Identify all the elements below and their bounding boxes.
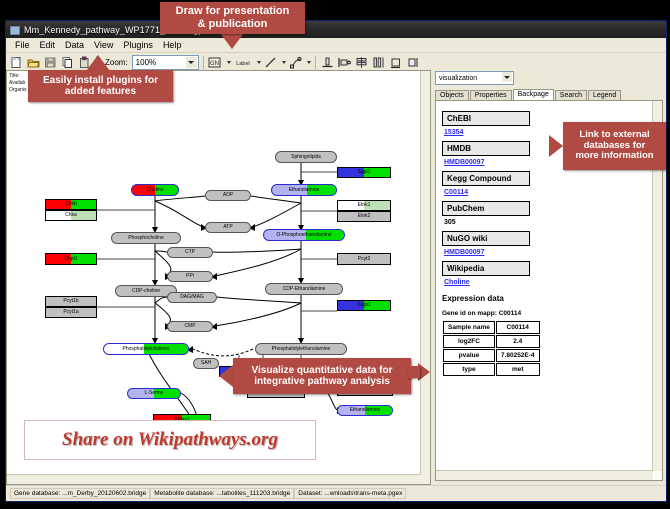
node-label: DAG/MAG	[180, 295, 204, 300]
pubchem-value: 305	[444, 219, 647, 226]
pathway-metabolite-node[interactable]: Phosphatidylethanolamine	[255, 343, 347, 355]
pathway-gene-node[interactable]: Etnk1	[337, 200, 391, 211]
tab-objects[interactable]: Objects	[435, 90, 469, 100]
pathway-gene-node[interactable]: Chka	[45, 210, 97, 221]
table-row: pvalue 7.80252E-4	[443, 349, 540, 362]
menu-plugins[interactable]: Plugins	[118, 40, 158, 50]
pathway-metabolite-node[interactable]: CMP	[167, 321, 213, 332]
chevron-down-icon[interactable]	[502, 72, 512, 82]
callout-link: Link to external databases for more info…	[563, 122, 666, 170]
node-label: PPi	[186, 274, 194, 279]
chevron-down-icon[interactable]	[186, 57, 197, 68]
visualization-value: visualization	[439, 75, 477, 82]
visualization-row: visualization	[431, 70, 666, 86]
open-folder-icon[interactable]	[26, 55, 41, 70]
label-icon[interactable]: Label	[233, 55, 253, 70]
menu-data[interactable]: Data	[60, 40, 89, 50]
wikipedia-link[interactable]: Choline	[444, 279, 647, 286]
statusbar: Gene database: ...m_Derby_20120602.bridg…	[6, 485, 666, 501]
zoom-combobox[interactable]: 100%	[132, 55, 199, 70]
status-metabolite-database: Metabolite database: ...tabolites_111203…	[150, 488, 294, 499]
node-label: Phosphatidylcholines	[123, 347, 170, 352]
common-height-icon[interactable]	[405, 55, 420, 70]
share-banner-text: Share on Wikipathways.org	[62, 429, 278, 451]
backpage-horizontal-scrollbar[interactable]	[436, 470, 653, 480]
pathway-metabolite-node[interactable]: Sphingolipids	[275, 151, 337, 163]
gene-id-line: Gene id on mapp: C00114	[442, 310, 647, 317]
svg-text:Label: Label	[236, 61, 249, 67]
hmdb-header: HMDB	[442, 141, 530, 156]
table-row: log2FC 2.4	[443, 335, 540, 348]
pathway-gene-node[interactable]: Chpt1	[45, 253, 97, 265]
pathway-metabolite-node[interactable]: L-Serine	[127, 388, 181, 399]
zoom-value: 100%	[136, 58, 156, 67]
nugo-wiki-header: NuGO wiki	[442, 231, 530, 246]
kegg-compound-header: Kegg Compound	[442, 171, 530, 186]
node-label: Chpt1	[64, 257, 77, 262]
pathway-metabolite-node[interactable]: Phosphocholine	[111, 232, 181, 244]
toolbar-separator	[203, 56, 204, 69]
status-gene-database: Gene database: ...m_Derby_20120602.bridg…	[10, 488, 150, 499]
callout-link-line3: more information	[575, 151, 653, 162]
nugo-wiki-link[interactable]: HMDB00097	[444, 249, 647, 256]
callout-visualize-arrow	[219, 365, 233, 387]
share-banner: Share on Wikipathways.org	[24, 420, 316, 460]
menu-view[interactable]: View	[89, 40, 118, 50]
menu-edit[interactable]: Edit	[35, 40, 61, 50]
pathway-metabolite-node[interactable]: Ethanolamine	[271, 184, 337, 196]
table-row: type met	[443, 363, 540, 376]
node-label: Ethanolamine	[350, 408, 381, 413]
menu-help[interactable]: Help	[158, 40, 187, 50]
interaction-icon[interactable]	[288, 55, 303, 70]
node-label: Sphingolipids	[291, 155, 321, 160]
node-label: Cept1	[357, 303, 370, 308]
cell-type-label: type	[443, 363, 495, 376]
callout-plugins-line2: added features	[65, 86, 136, 98]
callout-link-arrow	[549, 135, 563, 157]
new-document-icon[interactable]	[9, 55, 24, 70]
pathway-organism-label: Organis	[9, 87, 27, 94]
pathway-metabolite-node[interactable]: CDP-Ethanolamine	[265, 283, 343, 295]
chevron-down-icon[interactable]	[282, 61, 286, 64]
pathway-metabolite-node[interactable]: Ethanolamine	[337, 405, 393, 416]
kegg-compound-link[interactable]: C00114	[444, 189, 647, 196]
node-label: Sgpl1	[358, 170, 371, 175]
node-label: ADP	[223, 193, 233, 198]
callout-draw-line1: Draw for presentation	[176, 5, 290, 18]
pathway-metabolite-node[interactable]: O-Phosphoethanolamine	[263, 229, 345, 241]
pathway-gene-node[interactable]: Pcyt2	[337, 253, 391, 265]
node-label: Pcyt2	[358, 257, 371, 262]
pathway-metabolite-node[interactable]: Phosphatidylcholines	[103, 343, 189, 355]
expression-table: Sample name C00114 log2FC 2.4 pvalue 7.8…	[442, 320, 541, 377]
node-label: CDP-choline	[132, 289, 160, 294]
pubchem-header: PubChem	[442, 201, 530, 216]
pathway-gene-node[interactable]: Sgpl1	[337, 167, 391, 178]
callout-plugins-line1: Easily install plugins for	[43, 75, 158, 87]
status-dataset: Dataset: ...wnloads\trans-meta.pgex	[294, 488, 406, 499]
callout-visualize-line1: Visualize quantitative data for	[252, 365, 393, 377]
tab-backpage[interactable]: Backpage	[513, 89, 554, 100]
pathway-gene-node[interactable]: Chkb	[45, 199, 97, 210]
line-icon[interactable]	[263, 55, 278, 70]
align-top-icon[interactable]	[320, 55, 335, 70]
canvas-horizontal-scrollbar[interactable]	[7, 474, 421, 484]
floppy-disk-icon[interactable]	[43, 55, 58, 70]
cell-sample-name-label: Sample name	[443, 321, 495, 334]
node-label: Phosphatidylethanolamine	[272, 347, 331, 352]
pathway-metabolite-node[interactable]: SAH	[193, 358, 219, 369]
pathway-gene-node[interactable]: Pcyt1a	[45, 307, 97, 318]
node-label: L-Serine	[145, 391, 164, 396]
callout-draw: Draw for presentation & publication	[160, 2, 305, 34]
expression-data-title: Expression data	[442, 294, 647, 303]
distribute-icon[interactable]	[371, 55, 386, 70]
node-label: Pcyt1a	[63, 310, 78, 315]
cell-log2fc-label: log2FC	[443, 335, 495, 348]
node-label: O-Phosphoethanolamine	[276, 233, 331, 238]
chevron-down-icon[interactable]	[227, 61, 231, 64]
callout-visualize-line2: integrative pathway analysis	[254, 376, 390, 388]
node-label: Choline	[147, 188, 164, 193]
window-titlebar[interactable]: Mm_Kennedy_pathway_WP1771_45176.gpml	[6, 21, 666, 38]
app-icon	[9, 24, 20, 35]
svg-text:GN: GN	[210, 61, 219, 67]
tab-legend[interactable]: Legend	[588, 90, 621, 100]
callout-draw-arrow	[220, 33, 244, 49]
node-label: CMP	[184, 324, 195, 329]
cell-type-value: met	[496, 363, 540, 376]
pathway-gene-node[interactable]: Pcyt1b	[45, 296, 97, 307]
pathway-gene-node[interactable]: Etnk2	[337, 211, 391, 222]
callout-visualize: Visualize quantitative data for integrat…	[233, 358, 411, 394]
tab-properties[interactable]: Properties	[470, 90, 512, 100]
pathway-title-label: Title:	[9, 73, 27, 80]
callout-plugins: Easily install plugins for added feature…	[28, 70, 173, 102]
node-label: SAH	[201, 361, 211, 366]
pathway-metabolite-node[interactable]: ADP	[205, 190, 251, 201]
node-label: Etnk2	[358, 214, 371, 219]
node-label: Pcyt1b	[63, 299, 78, 304]
cell-log2fc-value: 2.4	[496, 335, 540, 348]
callout-expression-stub	[408, 366, 420, 378]
node-label: Chkb	[65, 202, 77, 207]
callout-link-line1: Link to external	[579, 130, 649, 141]
common-width-icon[interactable]	[388, 55, 403, 70]
menubar: File Edit Data View Plugins Help	[6, 38, 666, 53]
stack-vertical-icon[interactable]	[354, 55, 369, 70]
node-label: ATP	[223, 225, 232, 230]
menu-file[interactable]: File	[10, 40, 35, 50]
node-label: Etnk1	[358, 203, 371, 208]
side-panel-tabs: Objects Properties Backpage Search Legen…	[431, 86, 666, 100]
cell-sample-name-value: C00114	[496, 321, 540, 334]
pathway-metabolite-node[interactable]: CTP	[167, 247, 213, 258]
wikipedia-header: Wikipedia	[442, 261, 530, 276]
cell-pvalue-value: 7.80252E-4	[496, 349, 540, 362]
pathway-metabolite-node[interactable]: PPi	[167, 271, 213, 282]
pathway-availability-label: Availab	[9, 80, 27, 87]
visualization-select[interactable]: visualization	[435, 71, 514, 85]
pathway-metabolite-node[interactable]: ATP	[205, 222, 251, 233]
canvas-vertical-scrollbar[interactable]	[420, 71, 430, 484]
pathway-metabolite-node[interactable]: DAG/MAG	[167, 292, 217, 303]
pathway-info-stub: Title: Availab Organis	[9, 73, 27, 94]
chevron-down-icon[interactable]	[257, 61, 261, 64]
node-label: Ethanolamine	[289, 188, 320, 193]
align-left-icon[interactable]	[337, 55, 352, 70]
node-label: CTP	[185, 250, 195, 255]
callout-draw-line2: & publication	[198, 18, 268, 31]
chebi-header: ChEBI	[442, 111, 530, 126]
tab-search[interactable]: Search	[555, 90, 587, 100]
pathway-gene-node[interactable]: Cept1	[337, 300, 391, 311]
pathway-metabolite-node[interactable]: Choline	[131, 184, 179, 196]
screenshot-root: Mm_Kennedy_pathway_WP1771_45176.gpml Fil…	[0, 0, 670, 509]
cell-pvalue-label: pvalue	[443, 349, 495, 362]
table-row: Sample name C00114	[443, 321, 540, 334]
node-label: Chka	[65, 213, 77, 218]
copy-icon[interactable]	[60, 55, 75, 70]
node-label: Phosphocholine	[128, 236, 164, 241]
node-label: CDP-Ethanolamine	[283, 287, 326, 292]
datanode-icon[interactable]: GN	[208, 55, 223, 70]
callout-plugins-arrow	[86, 55, 110, 71]
chevron-down-icon[interactable]	[307, 61, 311, 64]
toolbar-separator	[315, 56, 316, 69]
